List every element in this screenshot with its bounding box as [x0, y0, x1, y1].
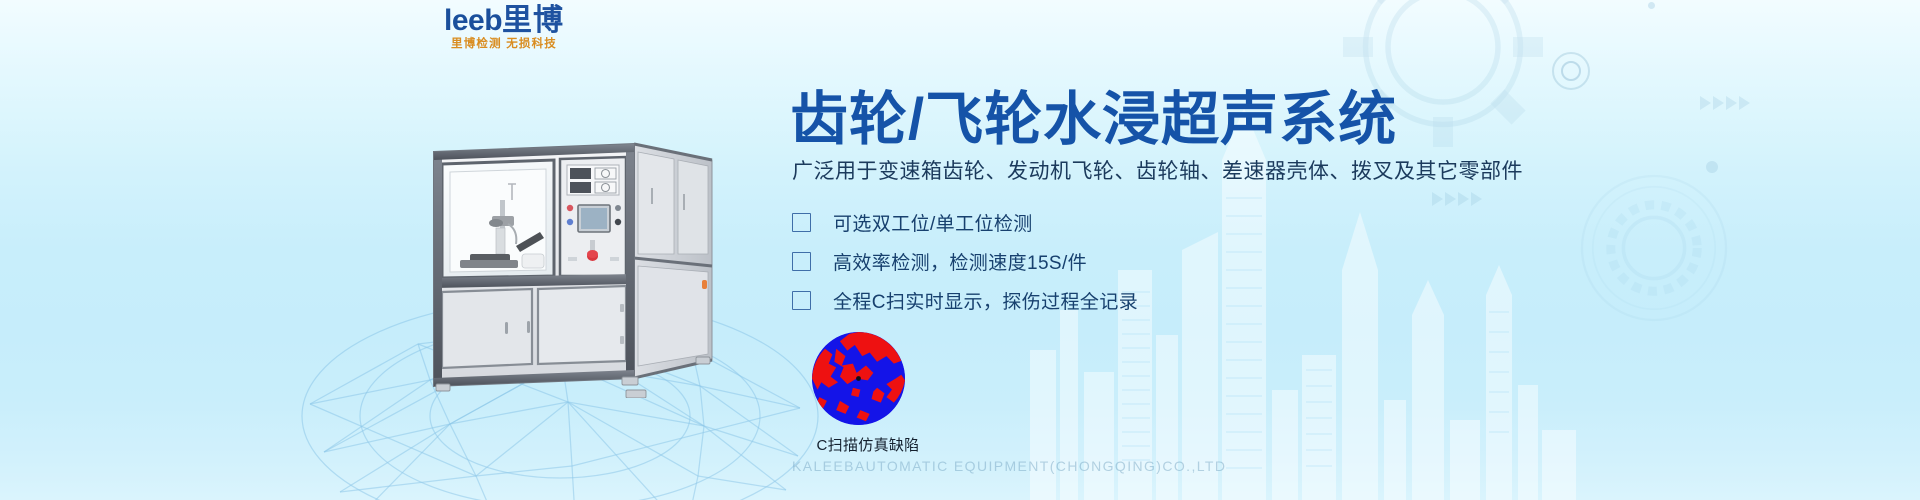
- logo-tagline: 里博检测 无损科技: [424, 39, 584, 51]
- feature-label: 可选双工位/单工位检测: [833, 209, 1033, 236]
- feature-list: 可选双工位/单工位检测 高效率检测，检测速度15S/件 全程C扫实时显示，探伤过…: [792, 203, 1138, 320]
- page-title: 齿轮/飞轮水浸超声系统: [790, 91, 1397, 149]
- feature-label: 全程C扫实时显示，探伤过程全记录: [833, 287, 1138, 314]
- cscan-sample: C扫描仿真缺陷: [798, 332, 938, 455]
- banner-content: 齿轮/飞轮水浸超声系统 广泛用于变速箱齿轮、发动机飞轮、齿轮轴、差速器壳体、拨叉…: [790, 0, 1790, 500]
- machine-control-panel: [560, 157, 626, 276]
- product-photo-ultrasonic-machine: [412, 128, 730, 398]
- logo-wordmark: leeb里博: [424, 6, 584, 36]
- list-item: 可选双工位/单工位检测: [792, 203, 1138, 242]
- cscan-caption: C扫描仿真缺陷: [798, 434, 938, 455]
- brand-logo[interactable]: leeb里博 里博检测 无损科技: [424, 6, 584, 51]
- machine-right-side: [634, 144, 712, 378]
- product-banner: leeb里博 里博检测 无损科技: [0, 0, 1920, 500]
- cscan-image: [812, 332, 905, 425]
- checkbox-icon: [792, 291, 811, 310]
- cscan-defect-map: [812, 332, 905, 425]
- logo-chinese-text: 里博: [502, 4, 564, 37]
- list-item: 全程C扫实时显示，探伤过程全记录: [792, 281, 1138, 320]
- subtitle: 广泛用于变速箱齿轮、发动机飞轮、齿轮轴、差速器壳体、拨叉及其它零部件: [792, 155, 1523, 185]
- checkbox-icon: [792, 252, 811, 271]
- checkbox-icon: [792, 213, 811, 232]
- list-item: 高效率检测，检测速度15S/件: [792, 242, 1138, 281]
- feature-label: 高效率检测，检测速度15S/件: [833, 248, 1087, 275]
- logo-latin-text: leeb: [444, 4, 502, 37]
- machine-glass-window: [442, 160, 554, 278]
- company-name: KALEEBAUTOMATIC EQUIPMENT(CHONGQING)CO.,…: [792, 458, 1226, 474]
